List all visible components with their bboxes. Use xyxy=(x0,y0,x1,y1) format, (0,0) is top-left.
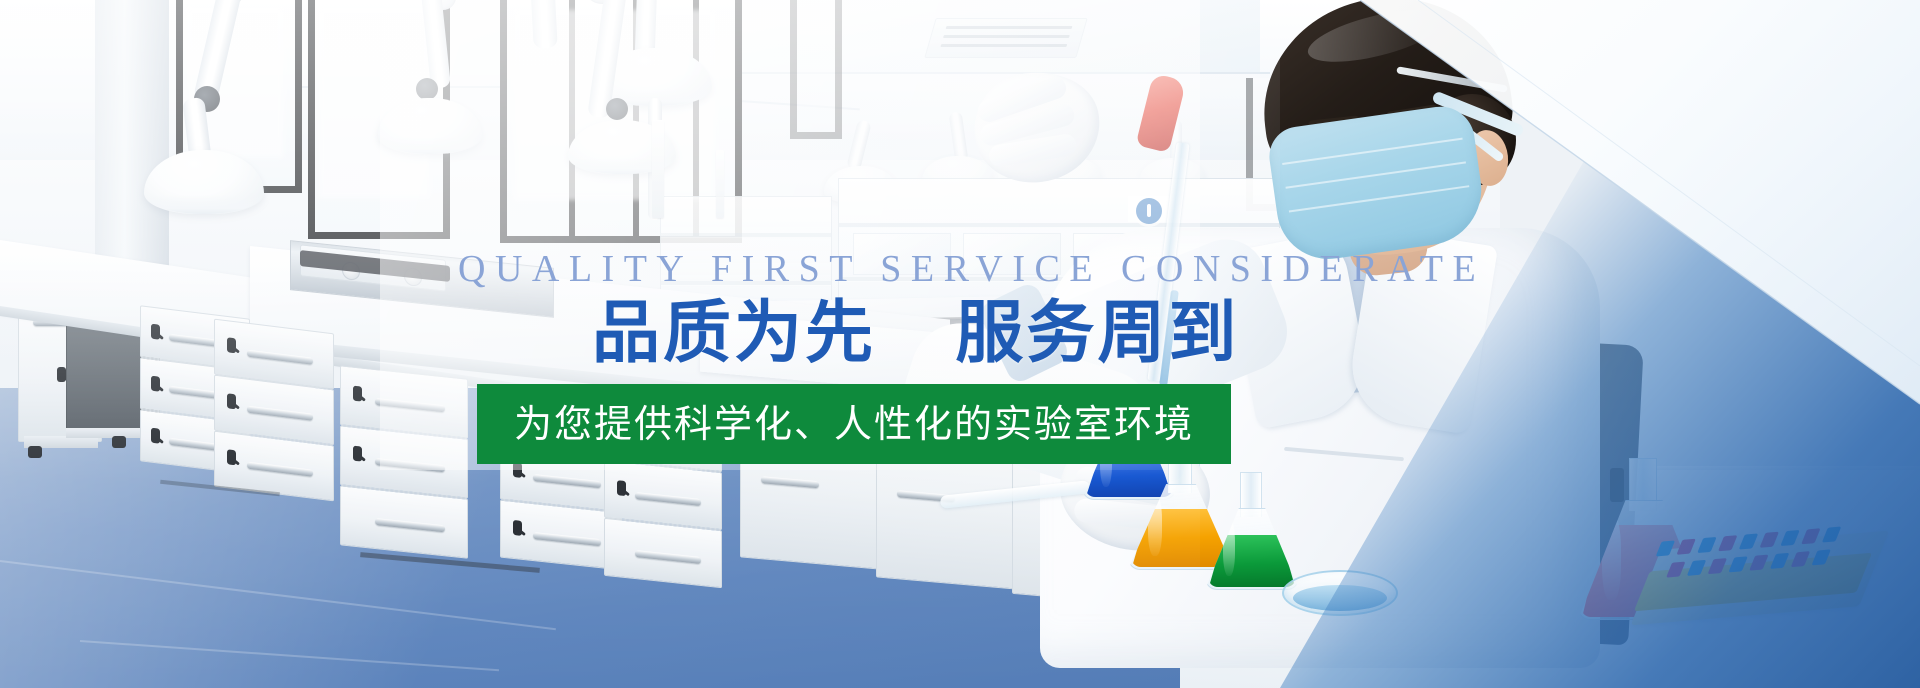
hero-banner: QUALITY FIRST SERVICE CONSIDERATE 品质为先 服… xyxy=(0,0,1920,688)
headline-part-right: 服务周到 xyxy=(955,294,1239,373)
banner-subtitle-text: 为您提供科学化、人性化的实验室环境 xyxy=(514,405,1194,443)
banner-copy-block: QUALITY FIRST SERVICE CONSIDERATE 品质为先 服… xyxy=(0,0,1920,688)
banner-headline: 品质为先 服务周到 xyxy=(592,298,1239,369)
headline-part-left: 品质为先 xyxy=(592,294,876,373)
banner-subtitle-bar: 为您提供科学化、人性化的实验室环境 xyxy=(477,384,1231,464)
banner-eyebrow-tagline: QUALITY FIRST SERVICE CONSIDERATE xyxy=(458,250,1485,288)
